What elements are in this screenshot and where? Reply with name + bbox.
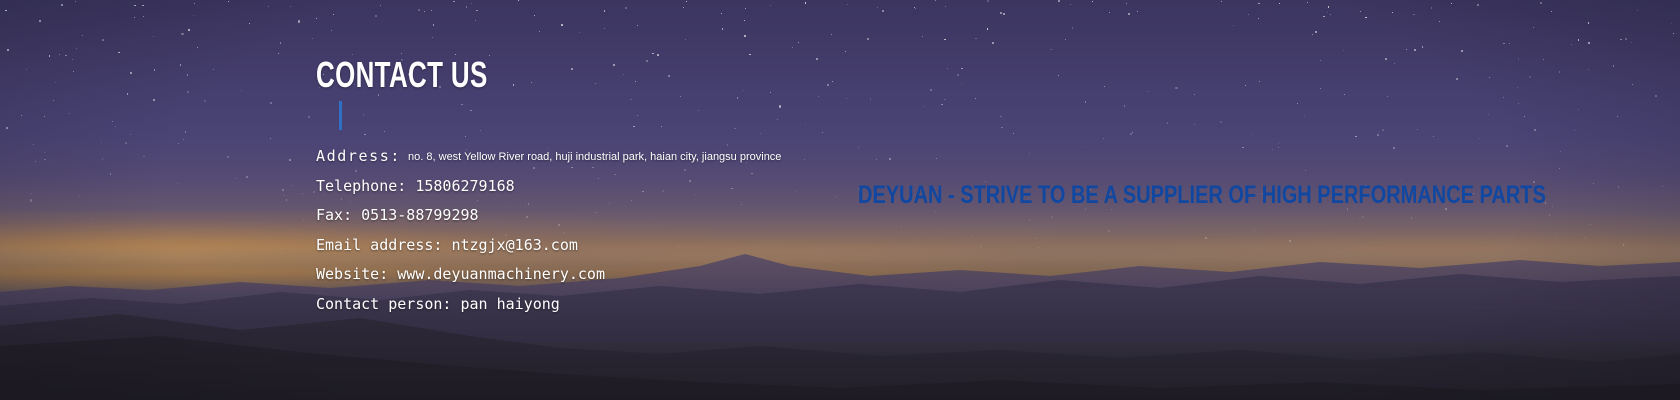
contact-details-list: Address:no. 8, west Yellow River road, h… [316,142,781,319]
contact-row-telephone: Telephone: 15806279168 [316,172,781,202]
contact-person-value: pan haiyong [461,295,560,313]
website-label: Website: [316,265,388,283]
email-value[interactable]: ntzgjx@163.com [451,236,577,254]
email-label: Email address: [316,236,442,254]
fax-value: 0513-88799298 [361,206,478,224]
title-accent-bar [339,101,342,130]
contact-row-email: Email address: ntzgjx@163.com [316,231,781,261]
website-value[interactable]: www.deyuanmachinery.com [397,265,605,283]
contact-banner: CONTACT US Address:no. 8, west Yellow Ri… [0,0,1680,400]
contact-person-label: Contact person: [316,295,451,313]
contact-row-website: Website: www.deyuanmachinery.com [316,260,781,290]
address-label: Address: [316,147,401,165]
contact-row-person: Contact person: pan haiyong [316,290,781,320]
contact-row-address: Address:no. 8, west Yellow River road, h… [316,142,781,172]
telephone-label: Telephone: [316,177,406,195]
banner-content: CONTACT US Address:no. 8, west Yellow Ri… [0,0,1680,400]
page-title: CONTACT US [316,57,488,93]
telephone-value[interactable]: 15806279168 [415,177,514,195]
contact-row-fax: Fax: 0513-88799298 [316,201,781,231]
company-tagline: DEYUAN - STRIVE TO BE A SUPPLIER OF HIGH… [858,183,1546,208]
fax-label: Fax: [316,206,352,224]
address-value: no. 8, west Yellow River road, huji indu… [408,151,781,163]
